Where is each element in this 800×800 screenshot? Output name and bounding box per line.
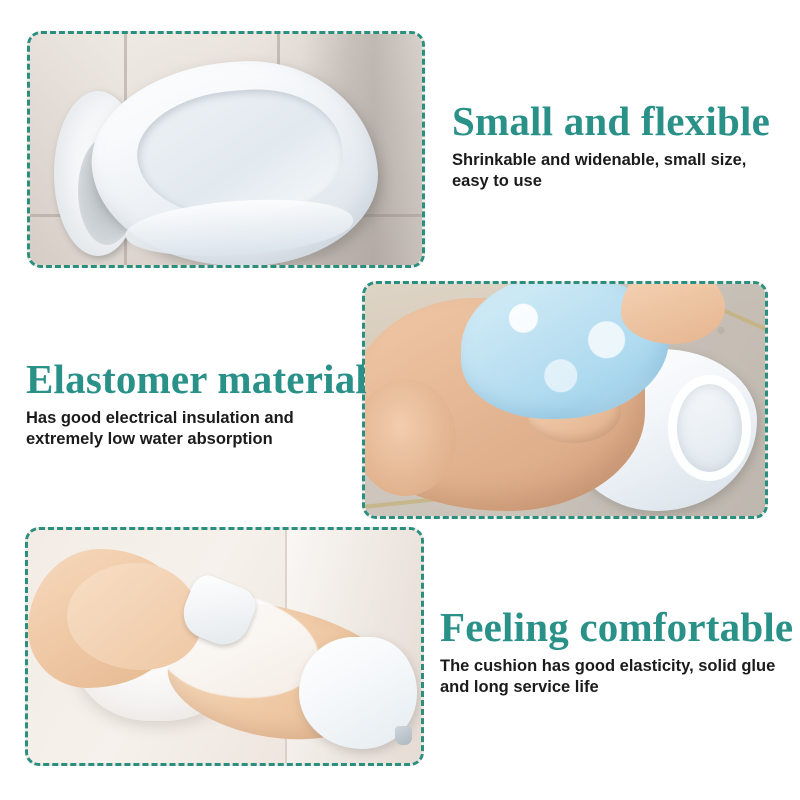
feature-text-small-and-flexible: Small and flexible Shrinkable and widena… (452, 100, 770, 192)
feature-heading: Elastomer material (26, 358, 367, 401)
feature-heading: Small and flexible (452, 100, 770, 143)
foot-rest-step (299, 637, 417, 749)
feature-description: Has good electrical insulation and extre… (26, 408, 367, 450)
feature-description: The cushion has good elasticity, solid g… (440, 656, 793, 698)
suction-cup-ring (668, 375, 751, 481)
feature-photo-elastomer-material (362, 281, 768, 519)
feature-text-elastomer-material: Elastomer material Has good electrical i… (26, 358, 367, 450)
product-shelf (54, 62, 383, 247)
photo-shower-step-on-wall (30, 34, 422, 265)
feature-description: Shrinkable and widenable, small size, ea… (452, 150, 770, 192)
feature-photo-feeling-comfortable (25, 527, 424, 766)
photo-woman-shaving-leg (28, 530, 421, 763)
feature-heading: Feeling comfortable (440, 606, 793, 649)
infographic-page: Small and flexible Shrinkable and widena… (0, 0, 800, 800)
foot-rest-pedal (85, 52, 384, 265)
feature-photo-small-and-flexible (27, 31, 425, 268)
photo-foot-with-loofah (365, 284, 765, 516)
suction-cup-lever (395, 726, 413, 745)
feature-text-feeling-comfortable: Feeling comfortable The cushion has good… (440, 606, 793, 698)
heel (365, 379, 456, 496)
